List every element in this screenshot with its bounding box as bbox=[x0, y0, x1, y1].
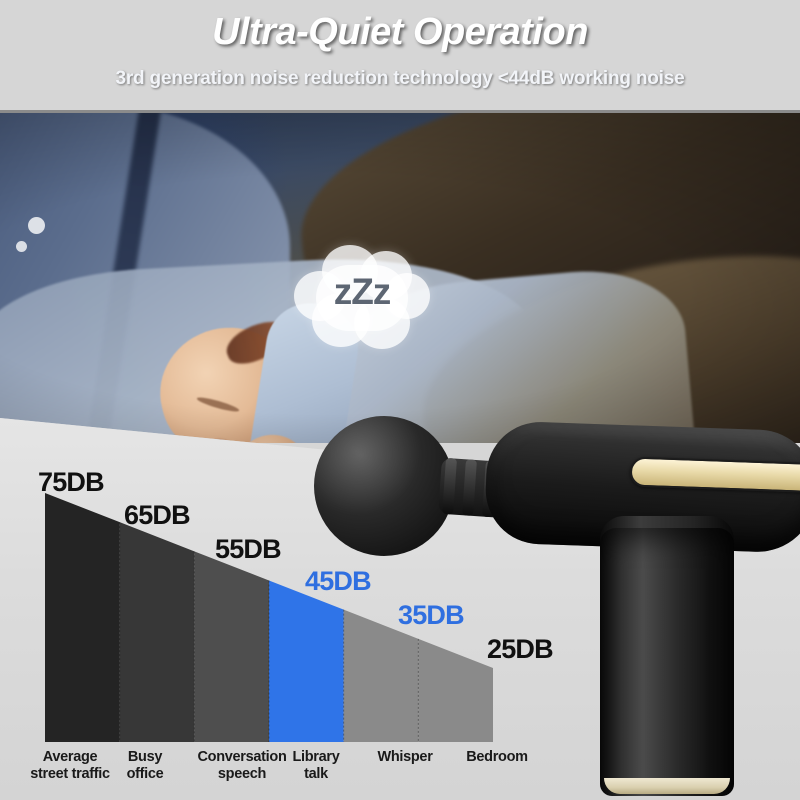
massage-gun-base-cap bbox=[604, 778, 730, 794]
thought-bubble-text: zZz bbox=[292, 271, 432, 313]
massage-gun-product bbox=[300, 398, 800, 800]
product-infographic: Ultra-Quiet Operation 3rd generation noi… bbox=[0, 0, 800, 800]
massage-gun-head-attachment bbox=[314, 416, 454, 556]
massage-gun-handle bbox=[600, 528, 734, 796]
db-label-0: 75DB bbox=[38, 467, 104, 498]
chart-bar bbox=[194, 551, 269, 742]
chart-bar bbox=[45, 493, 120, 742]
chart-bar bbox=[120, 522, 195, 742]
db-label-1: 65DB bbox=[124, 500, 190, 531]
db-label-2: 55DB bbox=[215, 534, 281, 565]
